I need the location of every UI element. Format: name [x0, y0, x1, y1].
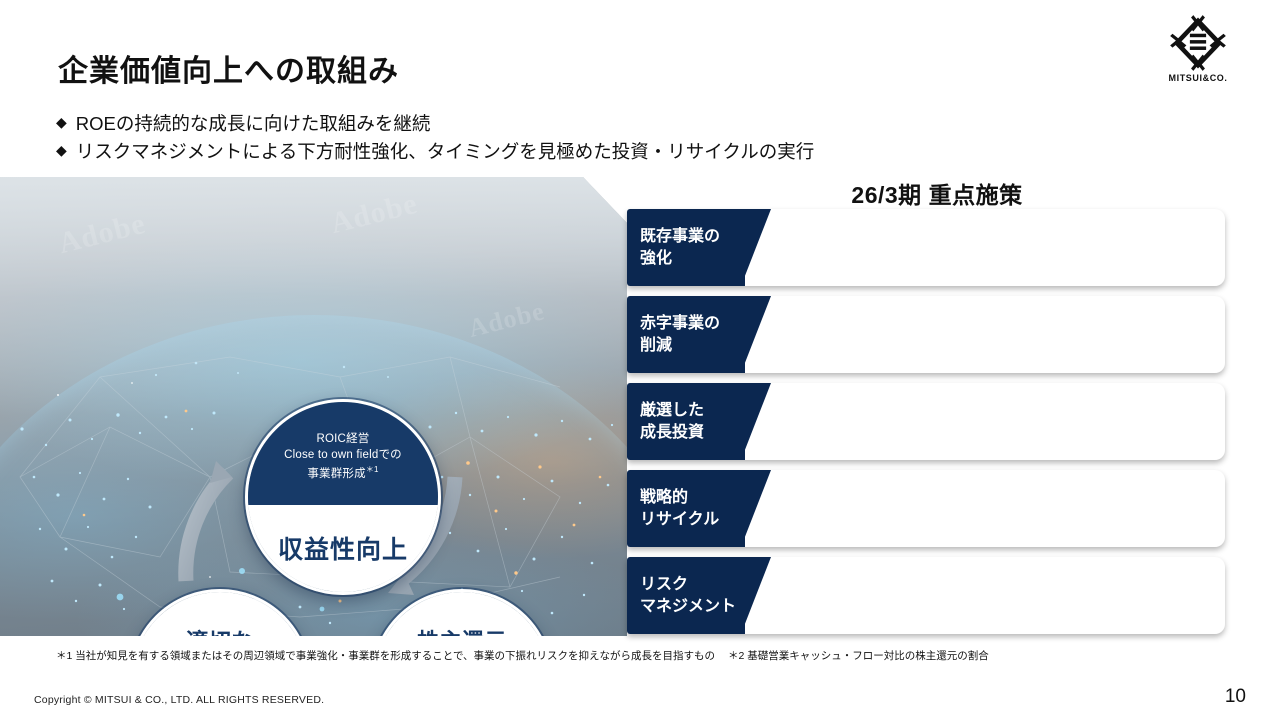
diamond-bullet-icon: ◆ — [56, 138, 67, 163]
measure-row-body: ● 赤字事業のターンアラウンド、及び見極め・Exit ● コスト削減の徹底 — [745, 296, 1225, 373]
footnote-marker-1: ＊1 — [366, 465, 379, 474]
measure-row-label-line-2: リサイクル — [640, 509, 745, 530]
footnote-1: ＊1 当社が知見を有する領域またはその周辺領域で事業強化・事業群を形成することで… — [56, 650, 715, 662]
header-bullets: ◆ ROEの持続的な成長に向けた取組みを継続 ◆ リスクマネジメントによる下方耐… — [56, 110, 814, 166]
bullet-dot-icon: ● — [765, 571, 772, 593]
measure-row: 厳選した 成長投資 ● 投資規律の徹底 ● 事業群形成とパイプライン拡充の継続 — [627, 383, 1225, 460]
measure-row-label-line-2: 強化 — [640, 248, 745, 269]
measure-item-text: 資本効率を意識した資産入替え — [778, 484, 988, 508]
measure-row: 既存事業の 強化 ● 生産性向上、収益基盤の強化、パートナーとの協業深化 ● 変… — [627, 209, 1225, 286]
bullet-dot-icon: ● — [765, 596, 772, 618]
cycle-top-title: 収益性向上 — [278, 530, 408, 566]
brand-logo: MITSUI&CO. — [1150, 14, 1246, 92]
measure-item: ● 投資規律の徹底 — [765, 397, 1225, 421]
measure-item: ● 事業群形成とパイプライン拡充の継続 — [765, 422, 1225, 446]
cycle-top-sub-line-1: ROIC経営 — [317, 432, 370, 448]
measure-row-label-line-1: 赤字事業の — [640, 313, 745, 334]
header-bullet-1-text: ROEの持続的な成長に向けた取組みを継続 — [76, 110, 431, 138]
measure-row: リスク マネジメント ● 統合的なリスク管理により複雑化する事業環境に対応 ● … — [627, 557, 1225, 634]
bullet-dot-icon: ● — [765, 310, 772, 332]
copyright-text: Copyright © MITSUI & CO., LTD. ALL RIGHT… — [34, 694, 324, 706]
measure-row-label: 赤字事業の 削減 — [627, 296, 745, 373]
header-bullet-2-text: リスクマネジメントによる下方耐性強化、タイミングを見極めた投資・リサイクルの実行 — [76, 138, 815, 166]
measure-item-text: 変化する事業環境に応じたトレーディング機能の発揮 — [778, 248, 1137, 272]
measure-item: ● 赤字事業のターンアラウンド、及び見極め・Exit — [765, 310, 1225, 334]
mitsui-diamond-logo-icon — [1169, 14, 1227, 72]
cycle-top-sub-line-2: Close to own fieldでの — [284, 448, 402, 464]
cycle-br-title-line-1: 株主還元 — [417, 629, 507, 636]
bullet-dot-icon: ● — [765, 248, 772, 270]
measures-title: 26/3期 重点施策 — [627, 176, 1247, 210]
measure-item: ● 資本効率を意識した資産入替え — [765, 484, 1225, 508]
measure-item-text: グローバルインテリジェンス機能の発揮 — [778, 596, 1048, 620]
measure-item-text: コスト削減の徹底 — [778, 335, 898, 359]
logo-wordmark: MITSUI&CO. — [1169, 73, 1228, 83]
footnotes: ＊1 当社が知見を有する領域またはその周辺領域で事業強化・事業群を形成することで… — [56, 648, 1156, 663]
measure-row-body: ● 投資規律の徹底 ● 事業群形成とパイプライン拡充の継続 — [745, 383, 1225, 460]
bullet-dot-icon: ● — [765, 484, 772, 506]
bullet-dot-icon: ● — [765, 223, 772, 245]
measure-row-label: 既存事業の 強化 — [627, 209, 745, 286]
measure-item-text: 赤字事業のターンアラウンド、及び見極め・Exit — [778, 310, 1102, 334]
measure-item-text: 投資規律の徹底 — [778, 397, 883, 421]
cycle-bl-title-line-1: 適切な — [186, 629, 254, 636]
page-number: 10 — [1225, 686, 1246, 708]
header-bullet-1: ◆ ROEの持続的な成長に向けた取組みを継続 — [56, 110, 814, 138]
cycle-top-sub-line-3: 事業群形成＊1 — [307, 464, 378, 483]
measure-item: ● コスト削減の徹底 — [765, 335, 1225, 359]
measure-row-label: 厳選した 成長投資 — [627, 383, 745, 460]
measure-item-text: 事業群形成とパイプライン拡充の継続 — [778, 422, 1033, 446]
arrow-bottom-left-to-top — [186, 473, 228, 581]
measures-list: 既存事業の 強化 ● 生産性向上、収益基盤の強化、パートナーとの協業深化 ● 変… — [627, 209, 1225, 644]
measure-row: 戦略的 リサイクル ● 資本効率を意識した資産入替え ● 上場株式の継続的な縮減 — [627, 470, 1225, 547]
header-bullet-2: ◆ リスクマネジメントによる下方耐性強化、タイミングを見極めた投資・リサイクルの… — [56, 138, 814, 166]
cycle-diagram-panel: Adobe Adobe Adobe ROIC経営 Close to own fi… — [0, 177, 627, 636]
measure-row-body: ● 生産性向上、収益基盤の強化、パートナーとの協業深化 ● 変化する事業環境に応… — [745, 209, 1225, 286]
bullet-dot-icon: ● — [765, 335, 772, 357]
measure-row-label-line-2: マネジメント — [640, 596, 745, 617]
bullet-dot-icon: ● — [765, 397, 772, 419]
measure-item: ● 変化する事業環境に応じたトレーディング機能の発揮 — [765, 248, 1225, 272]
measure-item-text: 統合的なリスク管理により複雑化する事業環境に対応 — [778, 571, 1138, 595]
measure-item: ● 統合的なリスク管理により複雑化する事業環境に対応 — [765, 571, 1225, 595]
measure-item-text: 上場株式の継続的な縮減 — [778, 509, 943, 533]
footnote-2: ＊2 基礎営業キャッシュ・フロー対比の株主還元の割合 — [728, 650, 989, 662]
measure-row: 赤字事業の 削減 ● 赤字事業のターンアラウンド、及び見極め・Exit ● コス… — [627, 296, 1225, 373]
cycle-top-sub-line-3-text: 事業群形成 — [307, 468, 366, 480]
measure-row-label: 戦略的 リサイクル — [627, 470, 745, 547]
measure-row-label-line-1: 既存事業の — [640, 226, 745, 247]
cycle-circle-profitability: ROIC経営 Close to own fieldでの 事業群形成＊1 収益性向… — [245, 399, 441, 595]
measure-row-body: ● 統合的なリスク管理により複雑化する事業環境に対応 ● グローバルインテリジェ… — [745, 557, 1225, 634]
diamond-bullet-icon: ◆ — [56, 110, 67, 135]
measure-item: ● 上場株式の継続的な縮減 — [765, 509, 1225, 533]
page-title: 企業価値向上への取組み — [58, 46, 399, 90]
measure-row-label-line-1: リスク — [640, 574, 745, 595]
measure-row-label-line-2: 削減 — [640, 335, 745, 356]
measure-item: ● グローバルインテリジェンス機能の発揮 — [765, 596, 1225, 620]
bullet-dot-icon: ● — [765, 509, 772, 531]
measure-row-body: ● 資本効率を意識した資産入替え ● 上場株式の継続的な縮減 — [745, 470, 1225, 547]
measure-row-label: リスク マネジメント — [627, 557, 745, 634]
measure-row-label-line-2: 成長投資 — [640, 422, 745, 443]
measure-row-label-line-1: 戦略的 — [640, 487, 745, 508]
measure-row-label-line-1: 厳選した — [640, 400, 745, 421]
measure-item: ● 生産性向上、収益基盤の強化、パートナーとの協業深化 — [765, 223, 1225, 247]
bullet-dot-icon: ● — [765, 422, 772, 444]
measure-item-text: 生産性向上、収益基盤の強化、パートナーとの協業深化 — [778, 223, 1153, 247]
